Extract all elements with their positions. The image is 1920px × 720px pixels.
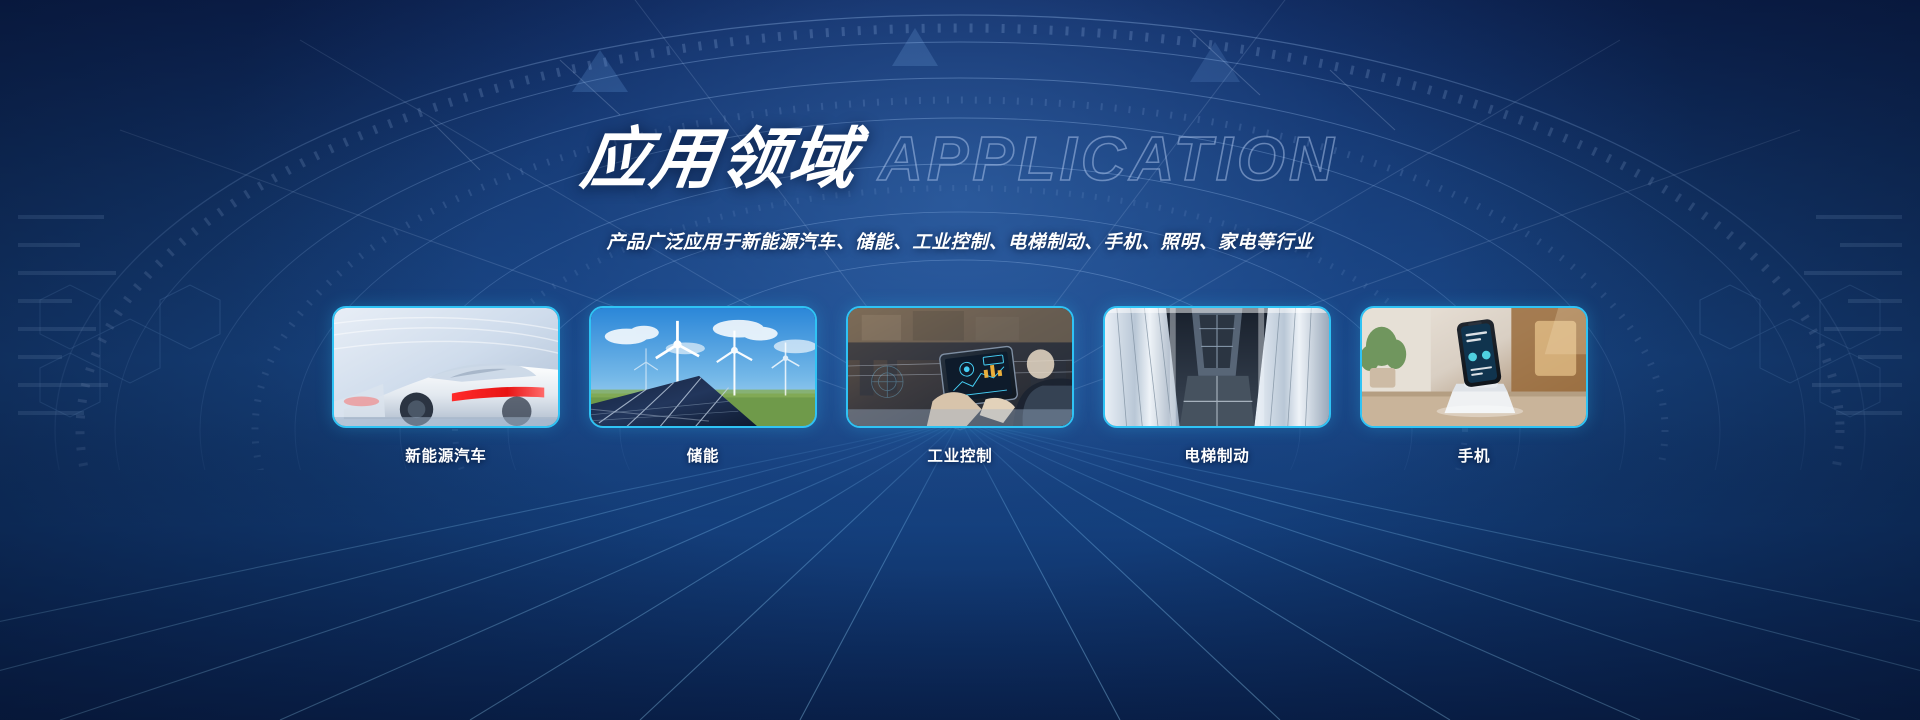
list-item[interactable]: 电梯制动 <box>1101 306 1333 466</box>
page-title: 应用领域 <box>577 126 862 193</box>
card-thumbnail-wrapper[interactable]: 工业控制 <box>844 306 1076 466</box>
card-label: 新能源汽车 <box>405 444 487 466</box>
card-label: 储能 <box>687 444 720 466</box>
list-item[interactable]: 储能 <box>587 306 819 466</box>
card-thumbnail[interactable] <box>1360 306 1588 428</box>
solar-wind-farm-icon <box>591 308 815 426</box>
card-label: 手机 <box>1458 444 1491 466</box>
application-card-list: 新能源汽车 <box>0 306 1920 466</box>
card-thumbnail[interactable] <box>332 306 560 428</box>
card-thumbnail[interactable] <box>846 306 1074 428</box>
banner-title-row: 应用领域 APPLICATION <box>0 126 1920 193</box>
list-item[interactable]: 手机 <box>1358 306 1590 466</box>
card-thumbnail[interactable] <box>1103 306 1331 428</box>
card-label: 电梯制动 <box>1184 444 1249 466</box>
engineer-tablet-factory-icon <box>848 308 1072 426</box>
silver-sports-car-icon <box>334 308 558 426</box>
card-thumbnail[interactable] <box>589 306 817 428</box>
page-title-english: APPLICATION <box>878 129 1338 191</box>
list-item[interactable]: 新能源汽车 <box>330 306 562 466</box>
card-label: 工业控制 <box>927 444 992 466</box>
smartphone-wireless-charger-icon <box>1362 308 1586 426</box>
application-banner: 应用领域 APPLICATION 产品广泛应用于新能源汽车、储能、工业控制、电梯… <box>0 0 1920 720</box>
banner-subtitle: 产品广泛应用于新能源汽车、储能、工业控制、电梯制动、手机、照明、家电等行业 <box>0 228 1920 254</box>
elevator-shaft-icon <box>1105 308 1329 426</box>
